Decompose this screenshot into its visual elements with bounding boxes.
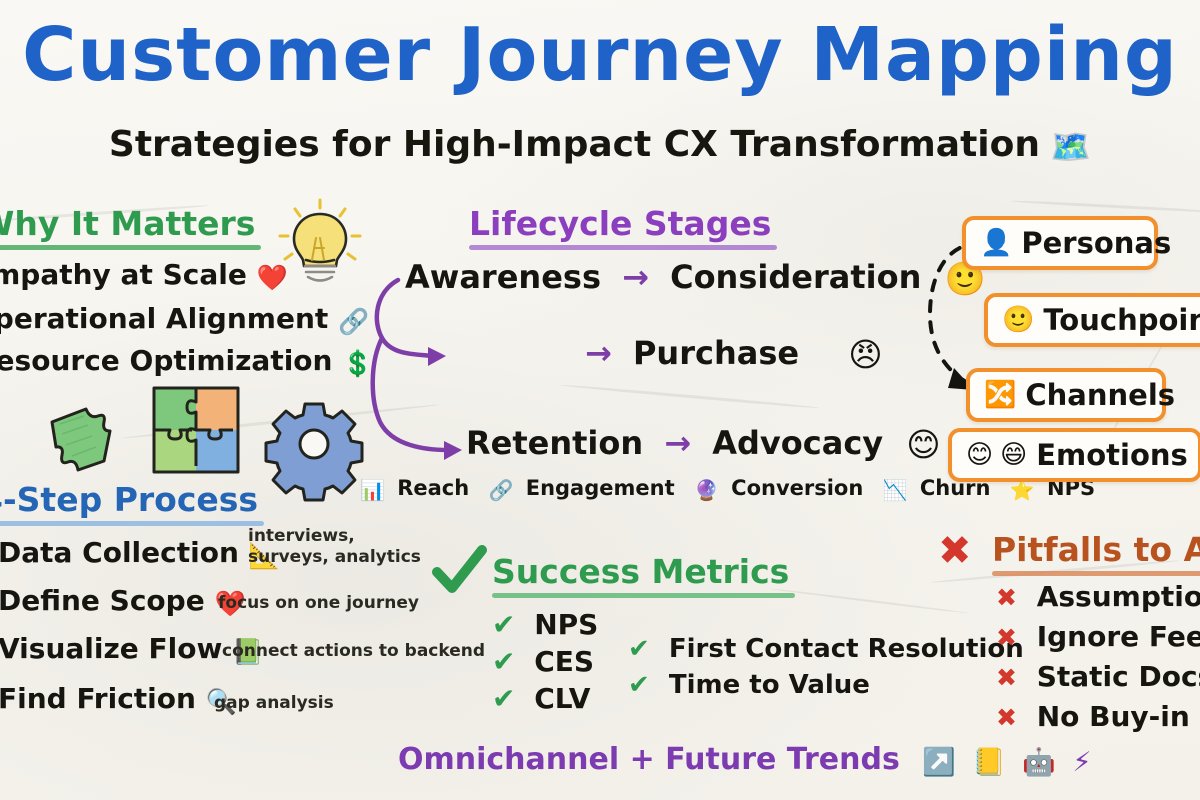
process-item-2-label: Visualize Flow [0,632,222,665]
pitfall-item-3: ✖ No Buy-in [996,700,1190,733]
angry-face-icon: 😠 [848,335,882,374]
lifecycle-stage-consideration: Consideration [670,258,921,296]
section-heading-pitfalls: Pitfalls to Avoid [992,530,1200,576]
map-icon: 🗺️ [1050,127,1091,166]
journey-element-personas-label: Personas [1021,226,1171,260]
lifecycle-stages-label: Lifecycle Stages [469,204,771,243]
cross-mark-icon: ✖ [996,623,1017,652]
success-metric-label: CES [534,645,594,678]
why-item-2: Resource Optimization 💲 [0,344,373,379]
heading-underline [469,245,777,250]
page-title: Customer Journey Mapping [0,12,1200,98]
grinning-face-icon: 😄 [1000,440,1027,470]
whiteboard-canvas: Customer Journey Mapping Strategies for … [0,0,1200,800]
check-icon: ✔ [492,682,515,715]
bar-chart-icon: 📊 [360,478,385,502]
paper-crease [121,403,440,439]
cross-mark-icon: ✖ [996,663,1017,692]
lifecycle-row-1: → Purchase 😠 [585,334,883,374]
section-heading-why-it-matters: Why It Matters [0,204,261,250]
shuffle-arrow-icon: 🔀 [984,380,1016,410]
success-metric-label: First Contact Resolution [669,634,1024,664]
process-item-0-label: Data Collection [0,536,239,569]
process-item-3-label: Find Friction [0,682,196,715]
success-metric-label: NPS [534,608,598,641]
pitfalls-heading-mark: ✖ [938,528,972,574]
crystal-ball-icon: 🔮 [694,478,719,502]
check-icon: ✔ [628,634,650,664]
why-item-1: Operational Alignment 🔗 [0,302,369,337]
money-icon: 💲 [342,349,373,378]
success-metrics-col-right: ✔ First Contact Resolution ✔ Time to Val… [628,634,1024,700]
why-item-0-label: Empathy at Scale [0,258,247,291]
paper-crease [560,384,819,410]
section-heading-four-step-process: 4-Step Process [0,480,264,526]
heading-underline [992,571,1200,576]
success-metrics-col-left: ✔ NPS ✔ CES ✔ CLV [492,608,598,715]
section-heading-lifecycle-stages: Lifecycle Stages [469,204,777,250]
page-subtitle: Strategies for High-Impact CX Transforma… [0,124,1200,167]
trend-up-arrow-icon: ↗️ [922,747,956,778]
process-item-1: Define Scope ❤️ [0,584,246,619]
lifecycle-stage-awareness: Awareness [405,258,601,296]
journey-element-emotions-label: Emotions [1036,438,1188,472]
link-icon: 🔗 [338,307,369,336]
lifecycle-stage-advocacy: Advocacy [712,424,883,462]
success-metric-item: ✔ CES [492,645,598,678]
footer-banner: Omnichannel + Future Trends ↗️ 📒 🤖 ⚡ [398,742,1091,778]
process-item-1-label: Define Scope [0,584,205,617]
notebook-icon: 📒 [972,747,1006,778]
link-icon: 🔗 [489,478,514,502]
journey-element-personas[interactable]: 👤 Personas [962,216,1158,270]
pitfall-item-1-label: Ignore Feedback [1037,620,1200,653]
puzzle-piece-icon [40,392,132,480]
why-item-1-label: Operational Alignment [0,302,328,335]
metric-engagement-label: Engagement [526,476,675,500]
heading-underline [492,593,795,598]
journey-element-touchpoints[interactable]: 🙂 Touchpoints [984,293,1200,347]
section-heading-success-metrics: Success Metrics [492,552,795,598]
person-silhouette-icon: 👤 [980,228,1012,258]
pitfall-item-0: ✖ Assumptions [996,580,1200,613]
pitfall-item-2: ✖ Static Docs [996,660,1200,693]
paper-crease [771,588,970,614]
process-item-3: Find Friction 🔍 [0,682,237,717]
big-check-icon [432,546,488,598]
journey-element-channels-label: Channels [1025,378,1175,412]
pitfall-item-3-label: No Buy-in [1037,700,1190,733]
page-subtitle-text: Strategies for High-Impact CX Transforma… [109,124,1040,165]
lifecycle-stage-purchase: Purchase [633,334,799,372]
success-metric-item: ✔ NPS [492,608,598,641]
four-step-process-label: 4-Step Process [0,480,258,519]
pitfall-item-1: ✖ Ignore Feedback [996,620,1200,653]
check-icon: ✔ [492,608,515,641]
arrow-icon: → [664,424,691,462]
success-metric-item: ✔ First Contact Resolution [628,634,1024,664]
puzzle-square-icon [148,382,244,478]
success-metric-label: CLV [534,682,590,715]
check-icon: ✔ [492,645,515,678]
chart-down-icon: 📉 [883,478,908,502]
metric-reach-label: Reach [397,476,469,500]
lifecycle-row-0: Awareness → Consideration 🙂 [405,258,986,299]
robot-icon: 🤖 [1022,747,1056,778]
check-icon: ✔ [628,670,650,700]
why-it-matters-label: Why It Matters [0,204,255,243]
arrow-icon: → [585,334,612,372]
heading-underline [0,521,264,526]
smiling-face-icon: 😊 [966,440,993,470]
footer-text: Omnichannel + Future Trends [398,742,900,777]
paper-crease [1010,200,1200,214]
process-item-0: Data Collection 📐 [0,536,280,571]
gear-icon [268,398,360,490]
heading-underline [0,245,261,250]
pitfall-item-2-label: Static Docs [1037,660,1200,693]
process-item-0-note: interviews, surveys, analytics [248,526,421,568]
success-metric-item: ✔ Time to Value [628,670,1024,700]
arrow-icon: → [622,258,649,296]
heart-icon: ❤️ [257,263,288,292]
pitfall-item-0-label: Assumptions [1037,580,1200,613]
smiling-face-icon: 😊 [906,425,940,464]
success-metrics-label: Success Metrics [492,552,789,591]
success-metric-label: Time to Value [669,670,870,700]
lifecycle-row-2: Retention → Advocacy 😊 [466,424,941,464]
success-metric-item: ✔ CLV [492,682,598,715]
cross-mark-icon: ✖ [996,703,1017,732]
why-item-0: Empathy at Scale ❤️ [0,258,288,293]
process-item-3-note: gap analysis [214,693,334,713]
journey-element-touchpoints-label: Touchpoints [1043,303,1200,337]
process-item-2-note: connect actions to backend [222,641,485,661]
pitfalls-label: Pitfalls to Avoid [992,530,1200,569]
journey-element-emotions[interactable]: 😊 😄 Emotions [948,428,1200,482]
cross-mark-icon: ✖ [996,583,1017,612]
face-icon: 🙂 [1002,305,1034,335]
process-item-1-note: focus on one journey [218,593,419,613]
lifecycle-stage-retention: Retention [466,424,643,462]
why-item-2-label: Resource Optimization [0,344,332,377]
lightning-bolt-icon: ⚡ [1072,747,1091,778]
journey-element-channels[interactable]: 🔀 Channels [966,368,1166,422]
metric-conversion-label: Conversion [731,476,863,500]
